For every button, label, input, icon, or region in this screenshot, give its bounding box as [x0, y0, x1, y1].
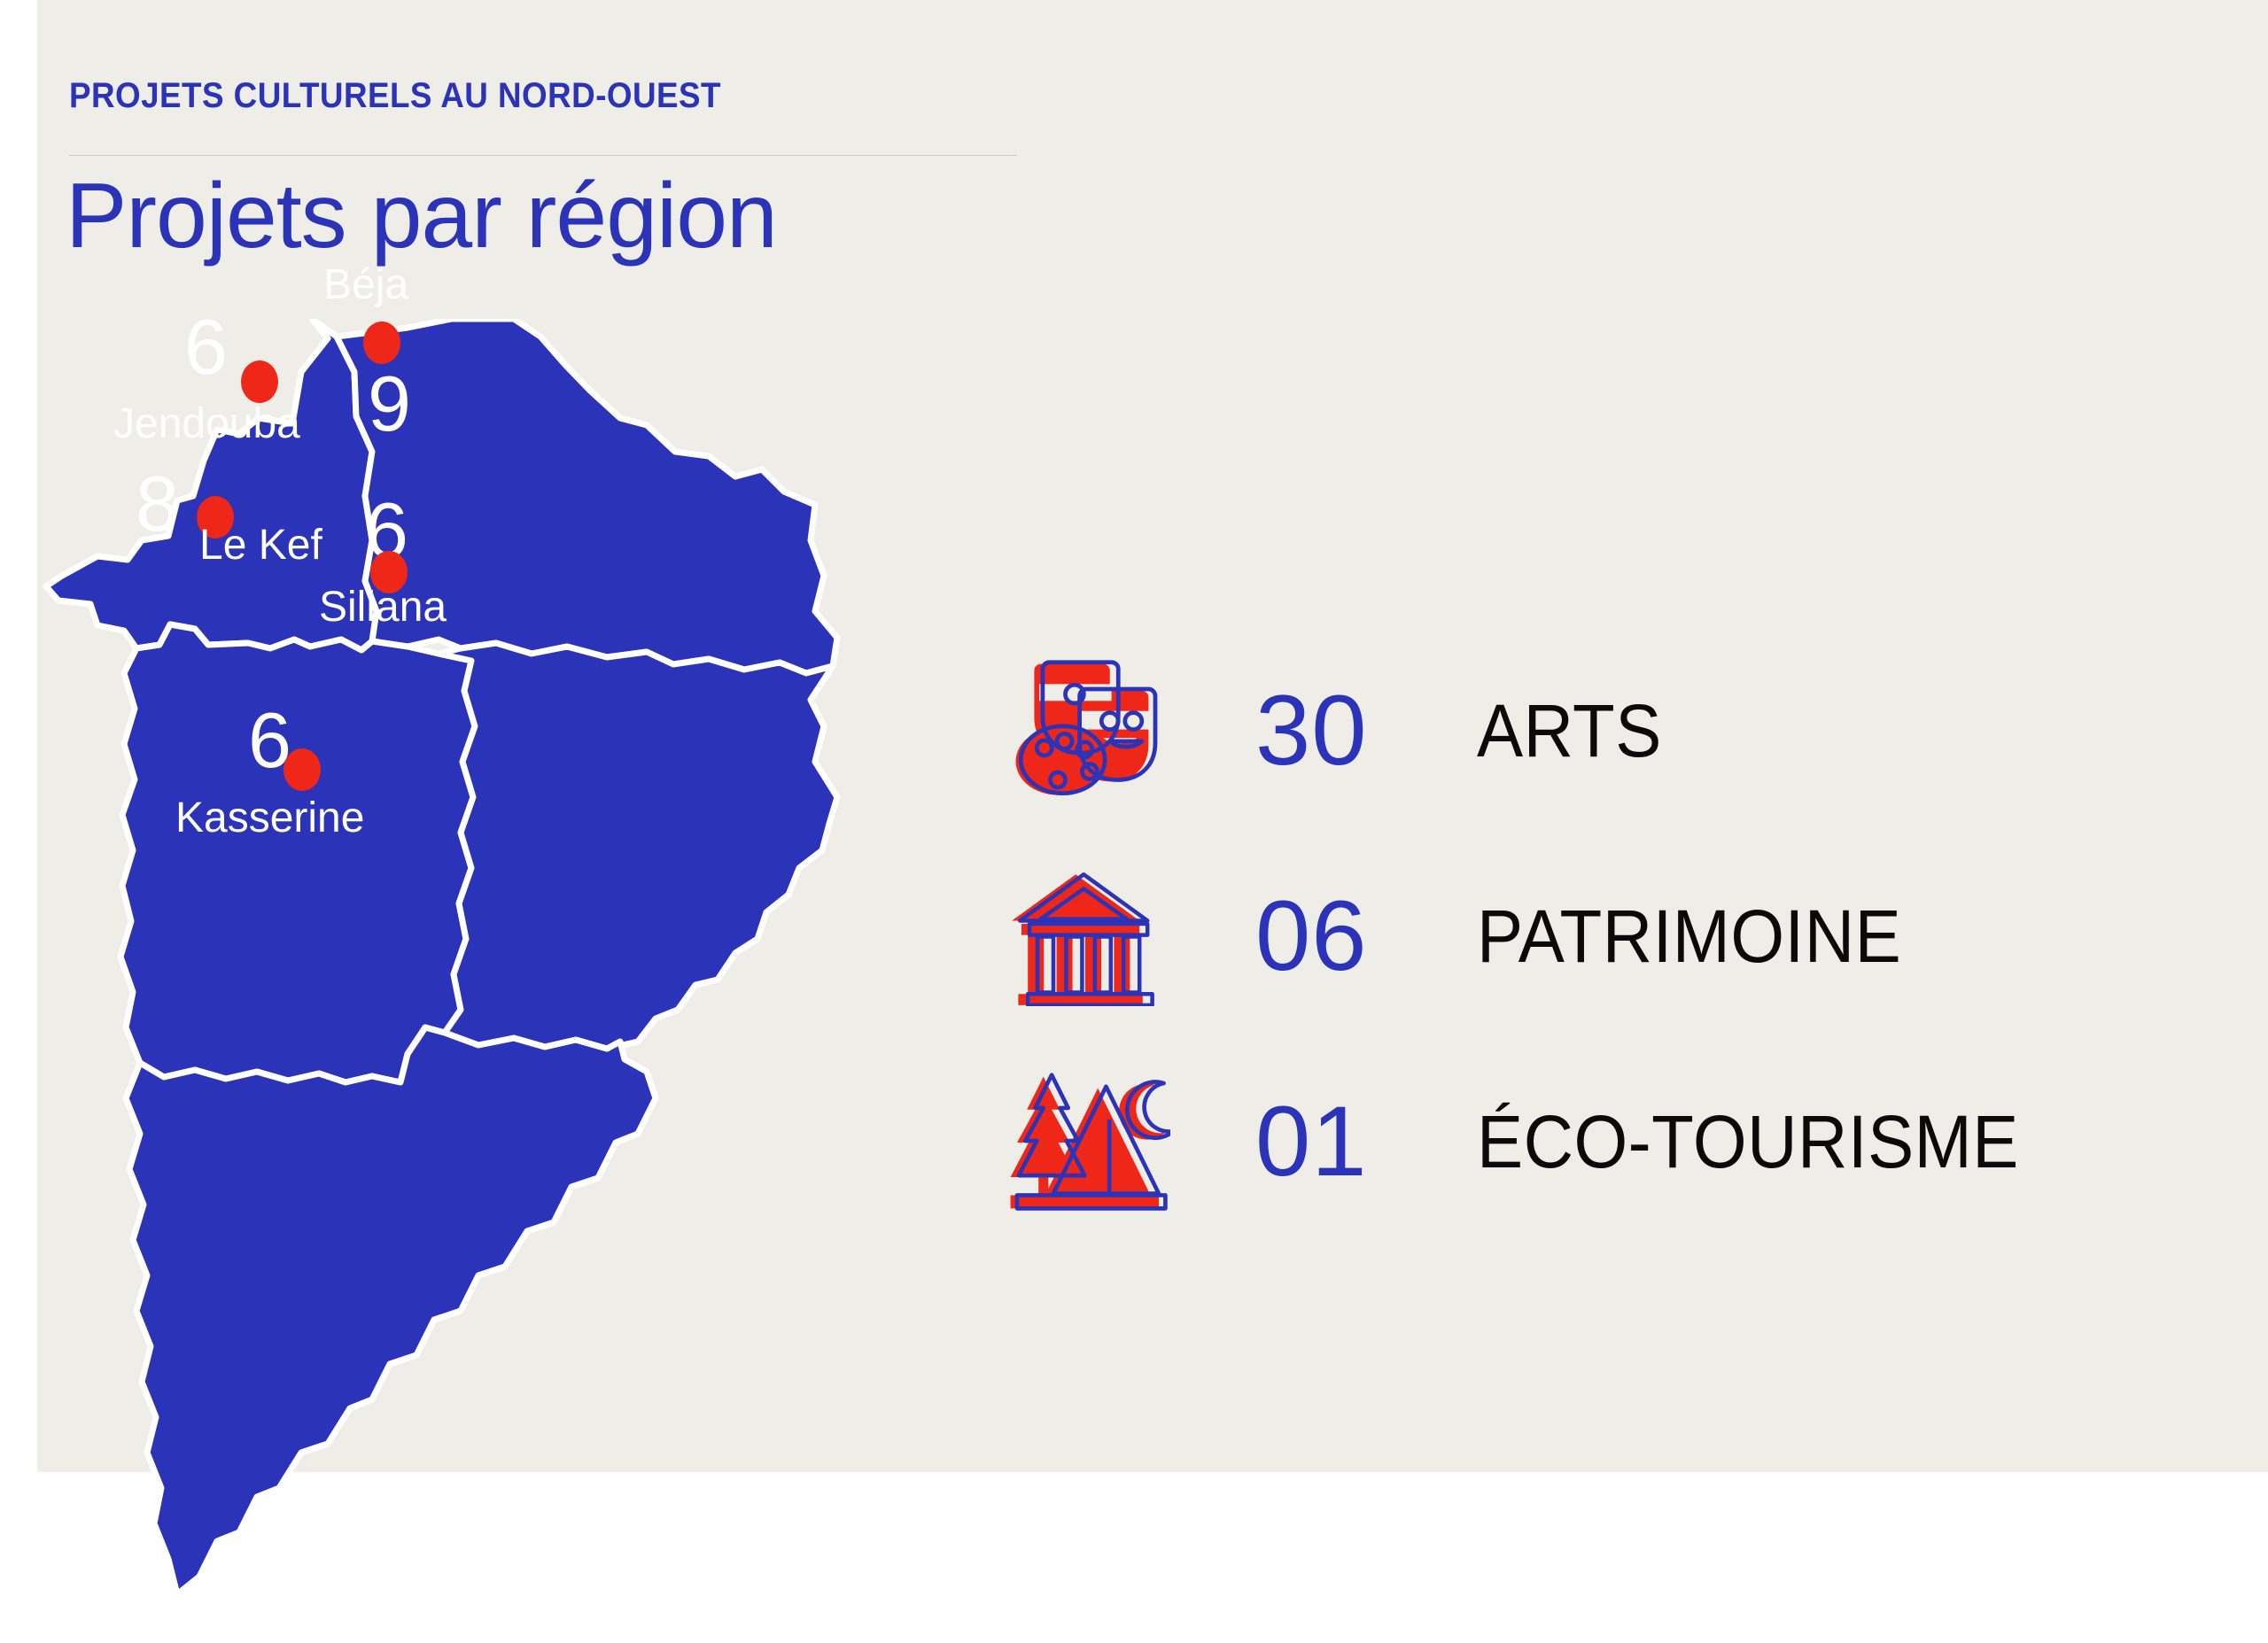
- tent-tree-moon-icon: [1006, 1065, 1183, 1220]
- legend-item-arts[interactable]: 30 ARTS: [1006, 651, 2193, 810]
- map-count-lekef: 8: [136, 465, 179, 543]
- legend-item-patrimoine[interactable]: 06 PATRIMOINE: [1006, 856, 2193, 1016]
- header-divider: [69, 155, 1017, 156]
- theater-masks-palette-icon: [1006, 654, 1183, 809]
- map-region-lekef[interactable]: [120, 624, 475, 1082]
- map-label-kasserine: Kasserine: [175, 797, 364, 840]
- map-count-jendouba: 6: [184, 308, 228, 386]
- map-count-beja: 9: [368, 365, 411, 443]
- map-dot-jendouba: [241, 360, 278, 403]
- classical-temple-icon: [1006, 859, 1183, 1014]
- legend-count-arts: 30: [1255, 681, 1477, 780]
- map-label-jendouba: Jendouba: [113, 403, 300, 446]
- legend-label-ecotourisme: ÉCO-TOURISME: [1477, 1104, 2019, 1179]
- legend-item-ecotourisme[interactable]: 01 ÉCO-TOURISME: [1006, 1062, 2193, 1221]
- eyebrow-text: PROJETS CULTURELS AU NORD-OUEST: [69, 78, 1210, 113]
- map-label-beja: Béja: [323, 264, 408, 306]
- map-label-siliana: Siliana: [319, 586, 447, 629]
- map-region-siliana[interactable]: [439, 643, 837, 1049]
- legend-count-ecotourisme: 01: [1255, 1092, 1477, 1191]
- infographic-canvas: PROJETS CULTURELS AU NORD-OUEST Projets …: [0, 0, 2268, 1643]
- region-map: 6 Jendouba Béja 9 8 Le Kef 6 Siliana 6 K…: [35, 319, 983, 1603]
- legend-label-arts: ARTS: [1477, 694, 1662, 768]
- map-region-kasserine[interactable]: [126, 1027, 656, 1594]
- legend-label-patrimoine: PATRIMOINE: [1477, 899, 1901, 973]
- legend-count-patrimoine: 06: [1255, 887, 1477, 986]
- page-title: Projets par région: [66, 162, 777, 271]
- map-dot-kasserine: [283, 748, 321, 791]
- header: PROJETS CULTURELS AU NORD-OUEST: [69, 78, 1309, 113]
- map-label-lekef: Le Kef: [199, 524, 322, 567]
- map-dot-beja: [363, 322, 400, 364]
- legend: 30 ARTS: [1006, 651, 2193, 1267]
